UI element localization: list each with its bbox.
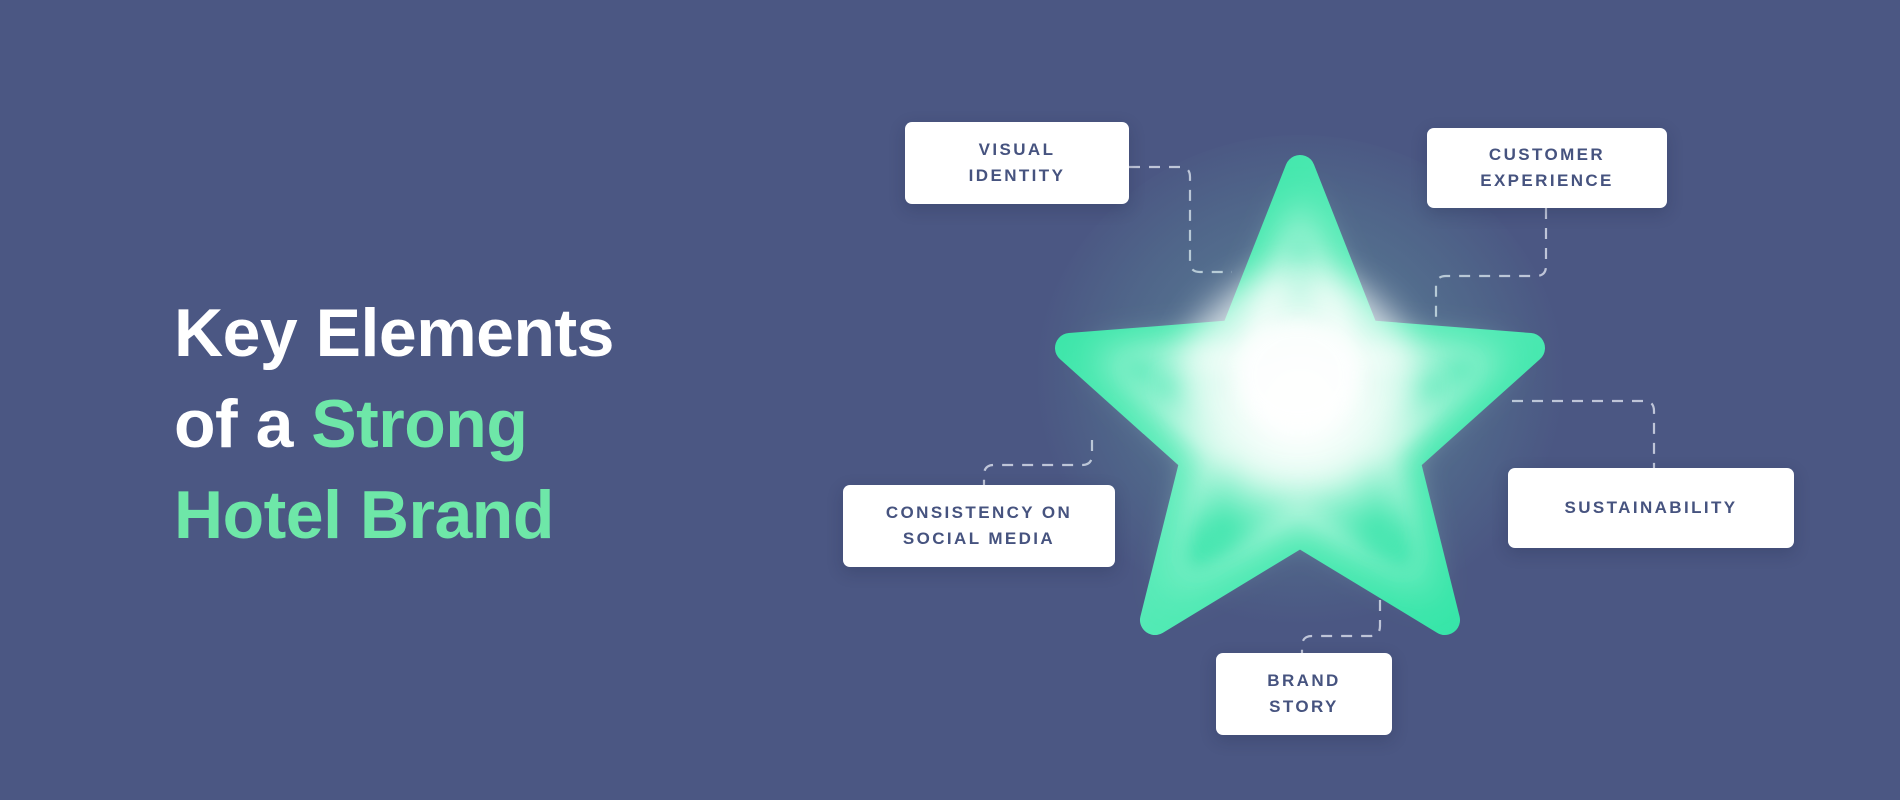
infographic-canvas: Key Elements of a Strong Hotel Brand <box>0 0 1900 800</box>
star-icon <box>1030 130 1570 650</box>
heading-line-2-accent: Strong <box>311 386 527 462</box>
heading-line-1: Key Elements <box>174 288 794 379</box>
star-graphic <box>1030 130 1570 650</box>
label-card-sustainability[interactable]: SUSTAINABILITY <box>1508 468 1794 548</box>
label-card-visual-identity[interactable]: VISUAL IDENTITY <box>905 122 1129 204</box>
label-card-brand-story[interactable]: BRAND STORY <box>1216 653 1392 735</box>
label-text-sustainability: SUSTAINABILITY <box>1564 495 1737 521</box>
star-center-highlight <box>1236 319 1360 431</box>
label-card-consistency-social-media[interactable]: CONSISTENCY ON SOCIAL MEDIA <box>843 485 1115 567</box>
label-text-customer-experience: CUSTOMER EXPERIENCE <box>1480 142 1614 194</box>
label-text-consistency-social-media: CONSISTENCY ON SOCIAL MEDIA <box>886 500 1072 552</box>
heading-line-2-plain: of a <box>174 386 311 462</box>
label-text-brand-story: BRAND STORY <box>1267 668 1340 720</box>
heading-line-3: Hotel Brand <box>174 470 794 561</box>
label-text-visual-identity: VISUAL IDENTITY <box>969 137 1066 189</box>
heading-line-2: of a Strong <box>174 379 794 470</box>
label-card-customer-experience[interactable]: CUSTOMER EXPERIENCE <box>1427 128 1667 208</box>
page-title: Key Elements of a Strong Hotel Brand <box>174 288 794 561</box>
